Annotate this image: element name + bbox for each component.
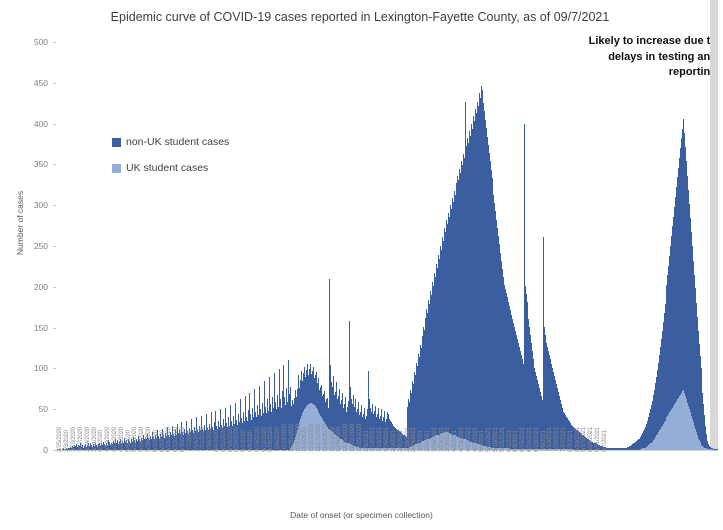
legend-label-uk: UK student cases [126,162,208,174]
y-axis-tick-mark [53,83,56,84]
x-axis-tick-label: 12/8/2020 [336,427,342,452]
y-axis-tick-mark [53,409,56,410]
x-axis-tick-label: 8/18/2020 [228,427,234,452]
y-axis-tick-label: 50 [0,404,48,414]
x-axis-tick-label: 4/21/2020 [112,427,118,452]
x-axis-tick-label: 2/25/2020 [57,427,63,452]
y-axis-tick-label: 500 [0,37,48,47]
x-axis-tick-label: 2/9/2021 [398,430,404,452]
x-axis-tick-label: 8/17/2021 [581,427,587,452]
plot-area [57,42,718,450]
x-axis-tick-label: 4/6/2021 [452,430,458,452]
x-axis-tick-label: 11/3/2020 [302,428,308,452]
x-axis-tick-label: 7/20/2021 [554,427,560,452]
x-axis-tick-label: 11/17/2020 [316,424,322,452]
y-axis-tick-mark [53,287,56,288]
x-axis-tick-label: 4/20/2021 [466,427,472,452]
x-axis-tick-label: 6/8/2021 [513,430,519,452]
x-axis-tick-label: 1/19/2021 [377,427,383,452]
x-axis-tick-label: 5/5/2020 [126,430,132,452]
x-axis-tick-label: 9/7/2021 [602,430,608,452]
x-axis-tick-label: 5/26/2020 [146,427,152,452]
y-axis-tick-mark [53,328,56,329]
legend-label-non-uk: non-UK student cases [126,136,229,148]
x-axis-tick-label: 11/24/2020 [323,424,329,452]
x-axis-tick-label: 7/6/2021 [541,430,547,452]
x-axis-tick-label: 1/12/2021 [370,427,376,452]
y-axis-tick-mark [53,42,56,43]
x-axis-tick-label: 8/10/2021 [575,427,581,452]
x-axis-tick-label: 2/23/2021 [411,427,417,452]
x-axis-title: Date of onset (or specimen collection) [0,510,723,520]
y-axis-tick-mark [53,124,56,125]
y-axis-tick-label: 0 [0,445,48,455]
x-axis-tick-label: 12/15/2020 [343,424,349,452]
x-axis-tick-label: 3/2/2021 [418,430,424,452]
legend: non-UK student cases UK student cases [112,136,229,188]
y-axis-tick-label: 450 [0,78,48,88]
x-axis-tick-label: 5/19/2020 [139,427,145,452]
y-axis-tick-label: 200 [0,282,48,292]
y-axis-tick-label: 150 [0,323,48,333]
x-axis-tick-label: 3/30/2021 [445,427,451,452]
x-axis-tick-label: 7/21/2020 [200,427,206,452]
x-axis-tick-label: 5/25/2021 [500,427,506,452]
y-axis-title: Number of cases [15,183,25,263]
bars-layer [57,42,718,450]
x-axis-tick-label: 4/13/2021 [459,427,465,452]
x-axis-tick-label: 6/16/2020 [166,427,172,452]
x-axis-tick-label: 12/22/2020 [350,424,356,452]
x-axis-tick-label: 8/11/2020 [221,428,227,452]
x-axis-tick-label: 2/2/2021 [391,430,397,452]
epidemic-curve-chart: Epidemic curve of COVID-19 cases reporte… [0,0,723,530]
x-axis-tick-label: 1/5/2021 [364,430,370,452]
x-axis-tick-label: 3/23/2021 [439,427,445,452]
x-axis-tick-label: 12/1/2020 [330,427,336,452]
x-axis-tick-label: 4/27/2021 [473,427,479,452]
x-axis-tick-label: 6/23/2020 [173,427,179,452]
x-axis-tick-label: 7/13/2021 [547,427,553,452]
x-axis-tick-label: 7/7/2020 [187,430,193,452]
x-axis-tick-label: 9/22/2020 [262,427,268,452]
y-axis-tick-mark [53,368,56,369]
x-axis-tick-label: 7/14/2020 [194,427,200,452]
x-axis-tick-label: 12/29/2020 [357,424,363,452]
x-axis-tick-label: 5/12/2020 [132,427,138,452]
y-axis-tick-mark [53,205,56,206]
x-axis-tick-label: 6/1/2021 [507,430,513,452]
x-axis-tick-label: 9/1/2020 [241,430,247,452]
legend-swatch-uk [112,164,121,173]
x-axis-tick-label: 2/16/2021 [405,427,411,452]
x-axis-tick-label: 6/29/2021 [534,427,540,452]
x-axis-tick-label: 6/22/2021 [527,427,533,452]
y-axis-tick-mark [53,246,56,247]
x-axis-tick-label: 11/10/2020 [309,424,315,452]
x-axis-tick-label: 4/28/2020 [119,427,125,452]
x-axis-tick-label: 8/31/2021 [595,427,601,452]
x-axis-tick-label: 8/3/2021 [568,430,574,452]
x-axis-tick-label: 5/18/2021 [493,427,499,452]
x-axis-tick-label: 10/13/2020 [282,424,288,452]
x-axis-tick-label: 8/25/2020 [234,427,240,452]
x-axis-tick-labels: 2/25/20203/3/20203/10/20203/17/20203/24/… [57,452,718,508]
x-axis-tick-label: 6/30/2020 [180,427,186,452]
y-axis-tick-mark [53,164,56,165]
x-axis-tick-label: 4/7/2020 [98,430,104,452]
legend-item-uk: UK student cases [112,162,229,174]
x-axis-tick-label: 6/2/2020 [153,430,159,452]
y-axis-tick-mark [53,450,56,451]
x-axis-tick-label: 9/15/2020 [255,427,261,452]
legend-item-non-uk: non-UK student cases [112,136,229,148]
x-axis-tick-label: 8/4/2020 [214,430,220,452]
chart-title: Epidemic curve of COVID-19 cases reporte… [60,8,660,27]
y-axis-tick-label: 400 [0,119,48,129]
x-axis-tick-label: 7/27/2021 [561,427,567,452]
y-axis-tick-label: 100 [0,363,48,373]
x-axis-tick-label: 3/31/2020 [92,427,98,452]
x-axis-tick-label: 10/27/2020 [296,424,302,452]
x-axis-tick-label: 1/26/2021 [384,427,390,452]
x-axis-tick-label: 3/9/2021 [425,430,431,452]
x-axis-tick-label: 10/20/2020 [289,424,295,452]
y-axis-tick-label: 350 [0,159,48,169]
x-axis-tick-label: 9/29/2020 [268,427,274,452]
x-axis-tick-label: 3/17/2020 [78,427,84,452]
x-axis-tick-label: 5/4/2021 [479,430,485,452]
x-axis-tick-label: 5/11/2021 [486,428,492,452]
x-axis-tick-label: 6/15/2021 [520,427,526,452]
x-axis-tick-label: 3/16/2021 [432,427,438,452]
x-axis-tick-label: 10/6/2020 [275,427,281,452]
x-axis-tick-label: 9/8/2020 [248,430,254,452]
x-axis-tick-label: 8/24/2021 [588,427,594,452]
x-axis-tick-label: 7/28/2020 [207,427,213,452]
legend-swatch-non-uk [112,138,121,147]
x-axis-tick-label: 4/14/2020 [105,427,111,452]
x-axis-tick-label: 3/10/2020 [71,427,77,452]
x-axis-tick-label: 3/3/2020 [64,430,70,452]
x-axis-tick-label: 6/9/2020 [160,430,166,452]
x-axis-tick-label: 3/24/2020 [85,427,91,452]
